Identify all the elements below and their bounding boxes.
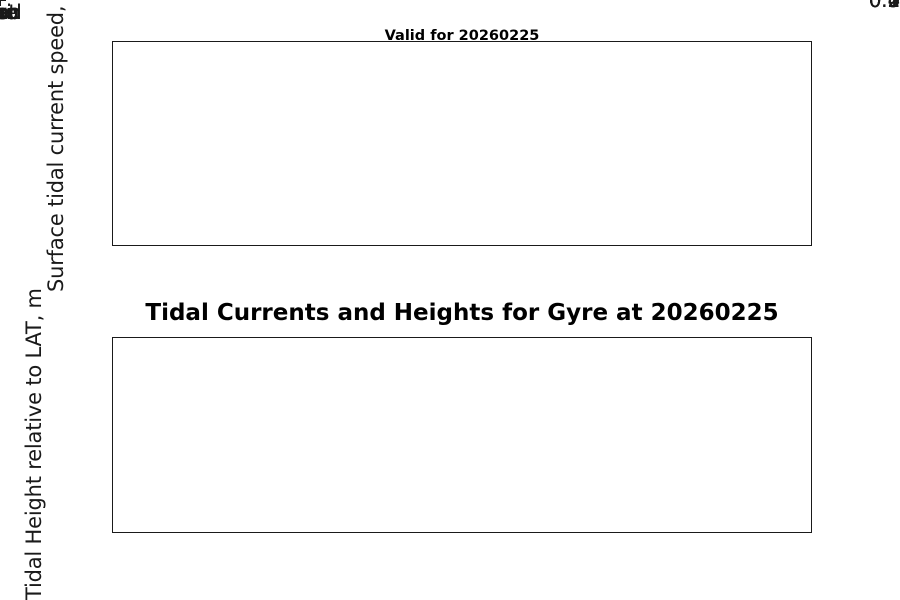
main-title: Tidal Currents and Heights for Gyre at 2… (145, 300, 778, 326)
x-tick-label-wed: Wed (0, 0, 22, 24)
tidal-height-axes (112, 337, 812, 533)
upper-plot-title: Valid for 20260225 (385, 28, 540, 44)
current-speed-plot-area (113, 42, 811, 245)
current-speed-axes (112, 41, 812, 246)
y-tick-label-1: 1 (887, 0, 900, 12)
tidal-figure: ThuFriSatSunMonTueWed00.10.20.30.4 Valid… (0, 0, 900, 600)
tidal-height-plot-area (113, 338, 811, 532)
current-speed-y-axis-label: Surface tidal current speed, kn (44, 0, 68, 292)
tidal-height-y-axis-label: Tidal Height relative to LAT, m (22, 288, 46, 600)
